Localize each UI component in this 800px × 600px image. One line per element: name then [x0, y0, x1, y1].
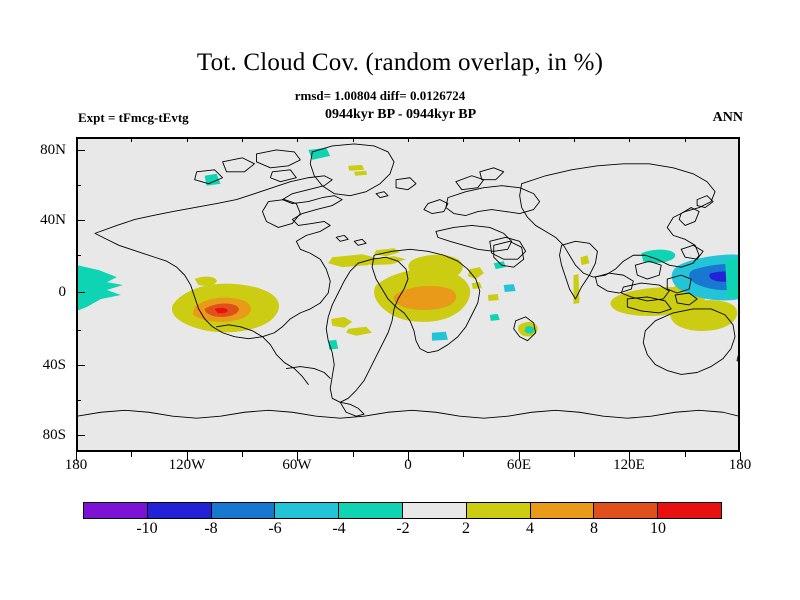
colorbar-band-9 [658, 503, 721, 518]
y-tick-80s [76, 435, 85, 436]
shape-far-east-pacific-negative [725, 257, 739, 299]
x-tick-90w [242, 452, 243, 457]
page-title: Tot. Cloud Cov. (random overlap, in %) [0, 48, 800, 78]
x-tick-top-120e [629, 137, 630, 142]
x-tick-90e [574, 452, 575, 457]
x-tick-top-150w [131, 137, 132, 142]
x-tick-top-120w [187, 137, 188, 142]
colorbar-band-7 [531, 503, 595, 518]
period-label: 0944kyr BP - 0944kyr BP [325, 107, 476, 123]
x-axis-label-120e: 120E [613, 458, 645, 473]
colorbar-tick-m2: -2 [396, 520, 409, 537]
colorbar-band-2 [212, 503, 276, 518]
x-tick-top-150e [685, 137, 686, 142]
statistics-label: rmsd= 1.00804 diff= 0.0126724 [0, 88, 760, 103]
y-tick-40n [76, 220, 85, 221]
season-label: ANN [713, 110, 743, 126]
x-tick-top-30w [353, 137, 354, 142]
x-tick-30w [353, 452, 354, 457]
x-axis-label-180w: 180 [65, 458, 88, 473]
x-tick-top-90w [242, 137, 243, 142]
x-tick-top-60w [297, 137, 298, 142]
y-tick-60s [76, 400, 81, 401]
y-tick-0 [76, 292, 85, 293]
colorbar-band-0 [84, 503, 148, 518]
colorbar-tick-m6: -6 [268, 520, 281, 537]
colorbar-band-8 [594, 503, 658, 518]
y-axis-label-80n: 80N [40, 143, 66, 158]
colorbar-tick-p2: 2 [462, 520, 470, 537]
colorbar-band-6 [467, 503, 531, 518]
map-canvas [77, 138, 739, 451]
x-axis-label-60e: 60E [507, 458, 531, 473]
colorbar-band-4 [339, 503, 403, 518]
x-tick-top-30e [463, 137, 464, 142]
y-tick-80n [76, 150, 85, 151]
shape-namibia-coast-patch [432, 332, 448, 341]
colorbar-tick-m4: -4 [332, 520, 345, 537]
experiment-label: Expt = tFmcg-tEvtg [78, 110, 189, 125]
y-axis-label-0: 0 [59, 285, 67, 300]
x-axis-label-120w: 120W [169, 458, 206, 473]
colorbar-tick-m8: -8 [204, 520, 217, 537]
colorbar-tick-p4: 4 [526, 520, 534, 537]
colorbar [83, 502, 722, 519]
x-tick-top-90e [574, 137, 575, 142]
colorbar-tick-m10: -10 [136, 520, 157, 537]
colorbar-band-1 [148, 503, 212, 518]
colorbar-band-5 [403, 503, 467, 518]
x-tick-150w [131, 452, 132, 457]
x-tick-top-60e [519, 137, 520, 142]
colorbar-tick-p10: 10 [650, 520, 666, 537]
x-tick-150e [685, 452, 686, 457]
x-axis-label-180e: 180 [729, 458, 752, 473]
y-axis-label-40n: 40N [40, 213, 66, 228]
x-axis-label-60w: 60W [282, 458, 311, 473]
y-tick-40s [76, 365, 85, 366]
y-tick-60n [76, 185, 81, 186]
y-axis-label-40s: 40S [43, 358, 66, 373]
y-tick-20n [76, 255, 81, 256]
y-tick-20s [76, 330, 81, 331]
x-tick-top-0 [408, 137, 409, 142]
x-tick-30e [463, 452, 464, 457]
x-axis-label-0: 0 [404, 458, 412, 473]
colorbar-tick-p8: 8 [590, 520, 598, 537]
world-map-plot [76, 137, 740, 452]
plot-page: Tot. Cloud Cov. (random overlap, in %) r… [0, 0, 800, 600]
y-axis-label-80s: 80S [43, 428, 66, 443]
colorbar-band-3 [275, 503, 339, 518]
